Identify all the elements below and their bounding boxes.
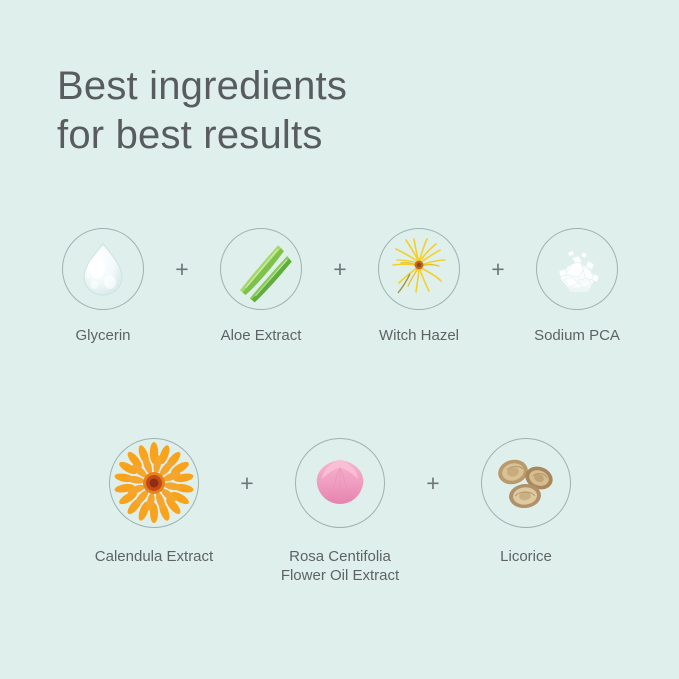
ingredient-calendula-extract: Calendula Extract: [79, 438, 229, 566]
page-title-line-2: for best results: [57, 111, 347, 160]
plus-separator: +: [324, 258, 356, 281]
ingredient-rosa-centifolia: Rosa Centifolia Flower Oil Extract: [265, 438, 415, 585]
rose-petal-icon: [297, 440, 383, 526]
ingredient-label: Glycerin: [75, 326, 130, 345]
aloe-leaves-icon: [222, 230, 300, 308]
glycerin-icon-circle: [62, 228, 144, 310]
ingredient-aloe-extract: Aloe Extract: [198, 228, 324, 345]
ingredient-row-2: Calendula Extract +: [60, 438, 620, 585]
calendula-flower-icon: [111, 440, 197, 526]
plus-separator: +: [482, 258, 514, 281]
ingredient-label: Rosa Centifolia Flower Oil Extract: [281, 547, 399, 585]
ingredient-label: Witch Hazel: [379, 326, 459, 345]
glycerin-droplet-icon: [64, 230, 142, 308]
plus-separator: +: [166, 258, 198, 281]
plus-separator: +: [415, 472, 451, 495]
ingredient-label: Licorice: [500, 547, 552, 566]
ingredient-witch-hazel: Witch Hazel: [356, 228, 482, 345]
rose-petal-icon-circle: [295, 438, 385, 528]
ingredient-label: Calendula Extract: [95, 547, 213, 566]
calendula-icon-circle: [109, 438, 199, 528]
witch-hazel-icon-circle: [378, 228, 460, 310]
licorice-icon-circle: [481, 438, 571, 528]
ingredient-label: Aloe Extract: [221, 326, 302, 345]
witch-hazel-flower-icon: [380, 230, 458, 308]
plus-separator: +: [229, 472, 265, 495]
ingredient-glycerin: Glycerin: [40, 228, 166, 345]
licorice-root-icon: [483, 440, 569, 526]
sodium-pca-icon-circle: [536, 228, 618, 310]
ingredient-label: Sodium PCA: [534, 326, 620, 345]
sodium-pca-crystals-icon: [538, 230, 616, 308]
aloe-icon-circle: [220, 228, 302, 310]
page-title-line-1: Best ingredients: [57, 62, 347, 111]
ingredient-row-1: Glycerin + Aloe Extract: [40, 228, 640, 345]
ingredient-sodium-pca: Sodium PCA: [514, 228, 640, 345]
ingredient-licorice: Licorice: [451, 438, 601, 566]
ingredients-infographic: Best ingredients for best results: [0, 0, 679, 679]
page-title: Best ingredients for best results: [57, 62, 347, 160]
